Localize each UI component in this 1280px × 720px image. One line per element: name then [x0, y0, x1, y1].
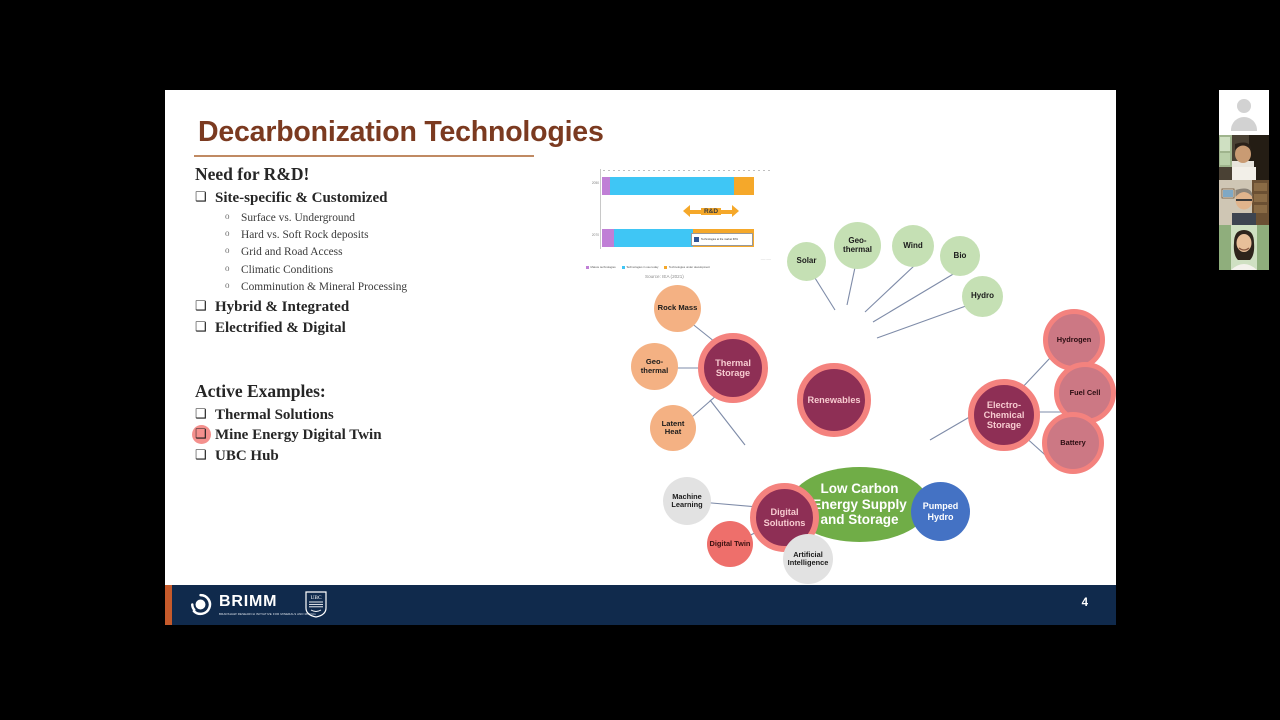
checkbox-icon: ❑: [195, 188, 215, 206]
chart-bar-segment: [610, 177, 734, 195]
node-label: Renewables: [805, 395, 862, 405]
bullet-label: Site-specific & Customized: [215, 188, 387, 209]
spacer: [195, 339, 545, 381]
circle-bullet-icon: o: [225, 279, 241, 293]
node-solar: Solar: [787, 242, 826, 281]
circle-bullet-icon: o: [225, 210, 241, 224]
brimm-name: BRIMM: [219, 594, 316, 610]
video-tile-avatar[interactable]: [1219, 90, 1269, 135]
bullet-label: Electrified & Digital: [215, 318, 346, 339]
sub-bullet-item: o Grid and Road Access: [225, 244, 545, 261]
chart-bar-segment: [602, 177, 610, 195]
node-digital-twin: Digital Twin: [707, 521, 753, 567]
footer-accent-bar: [165, 585, 172, 625]
sub-bullet-label: Comminution & Mineral Processing: [241, 279, 407, 296]
node-label: Hydro: [969, 292, 996, 301]
avatar-body-icon: [1231, 117, 1257, 131]
node-label: Battery: [1058, 439, 1087, 447]
brimm-subtitle: BRADSHAW RESEARCH INITIATIVE FOR MINERAL…: [219, 612, 316, 616]
checkbox-icon: ❑: [195, 318, 215, 336]
legend-swatch: [622, 266, 625, 269]
left-content-column: Need for R&D! ❑ Site-specific & Customiz…: [195, 164, 545, 467]
chart-source-caption: Source: IEA (2021): [645, 274, 684, 279]
chart-bar-segment: [602, 229, 614, 247]
chart-top-gridline: [603, 170, 771, 171]
node-label: DigitalSolutions: [762, 507, 808, 527]
node-label: Digital Twin: [708, 540, 753, 548]
node-label: Rock Mass: [656, 304, 700, 312]
node-machine-learning: MachineLearning: [663, 477, 711, 525]
node-rock-mass: Rock Mass: [654, 285, 701, 332]
node-label: Fuel Cell: [1068, 389, 1103, 397]
example-label: Mine Energy Digital Twin: [215, 425, 382, 446]
chart-ytick-1: 2070: [583, 233, 599, 237]
checkbox-icon: ❑: [195, 297, 215, 315]
node-hydro: Hydro: [962, 276, 1003, 317]
chart-footnote: —— ——: [761, 258, 771, 261]
sub-bullet-item: o Hard vs. Soft Rock deposits: [225, 227, 545, 244]
chart-bar-segment: [734, 177, 754, 195]
video-tile-participant-2[interactable]: [1219, 180, 1269, 225]
chart-legend: Mature technologiesTechnologies in use t…: [586, 265, 710, 269]
embedded-bar-chart: 2050 2070 R&D Technologies at the market…: [583, 165, 773, 281]
sub-bullet-item: o Comminution & Mineral Processing: [225, 279, 545, 296]
node-label: Bio: [952, 252, 969, 261]
need-for-rd-heading: Need for R&D!: [195, 164, 545, 185]
brimm-logo: BRIMM BRADSHAW RESEARCH INITIATIVE FOR M…: [189, 593, 316, 616]
node-electro-chemical-storage: Electro-ChemicalStorage: [968, 379, 1040, 451]
sub-bullet-label: Surface vs. Underground: [241, 210, 355, 227]
callout-text: Technologies at the market 60%: [701, 238, 738, 241]
node-latent-heat: LatentHeat: [650, 405, 696, 451]
active-examples-heading: Active Examples:: [195, 381, 545, 402]
circle-bullet-icon: o: [225, 227, 241, 241]
node-label: Wind: [901, 242, 924, 251]
title-underline: [194, 155, 534, 157]
zoom-screen-share: Decarbonization Technologies Need for R&…: [0, 0, 1280, 720]
bullet-hybrid-integrated: ❑ Hybrid & Integrated: [195, 297, 545, 318]
legend-swatch: [664, 266, 667, 269]
rd-annotation-arrow: R&D: [683, 205, 739, 218]
node-geothermal-thermal: Geo-thermal: [631, 343, 678, 390]
bullet-electrified-digital: ❑ Electrified & Digital: [195, 318, 545, 339]
legend-label: Technologies in use today: [626, 265, 658, 269]
checkbox-icon: ❑: [195, 425, 215, 443]
circle-bullet-icon: o: [225, 262, 241, 276]
chart-bar-segment: [614, 229, 693, 247]
example-ubc-hub: ❑ UBC Hub: [195, 446, 545, 467]
node-label: Geo-thermal: [841, 237, 874, 255]
node-geothermal-renewable: Geo-thermal: [834, 222, 881, 269]
node-battery: Battery: [1042, 412, 1104, 474]
chart-y-axis: [600, 169, 601, 249]
bullet-label: Hybrid & Integrated: [215, 297, 349, 318]
checkbox-icon: ❑: [195, 446, 215, 464]
circle-bullet-icon: o: [225, 244, 241, 258]
sub-bullet-item: o Climatic Conditions: [225, 262, 545, 279]
presentation-slide: Decarbonization Technologies Need for R&…: [165, 90, 1116, 585]
video-tile-participant-1[interactable]: [1219, 135, 1269, 180]
node-label: Solar: [794, 257, 818, 266]
sub-bullet-label: Climatic Conditions: [241, 262, 333, 279]
chart-ytick-0: 2050: [583, 181, 599, 185]
video-tile-strip: [1219, 90, 1269, 270]
slide-footer: BRIMM BRADSHAW RESEARCH INITIATIVE FOR M…: [165, 585, 1116, 625]
legend-label: Mature technologies: [591, 265, 616, 269]
brimm-swirl-icon: [189, 593, 212, 616]
node-artificial-intelligence: ArtificialIntelligence: [783, 534, 833, 584]
example-label: Thermal Solutions: [215, 405, 334, 426]
legend-entry: Technologies in use today: [622, 265, 659, 269]
sub-bullet-item: o Surface vs. Underground: [225, 210, 545, 227]
chart-callout-box: Technologies at the market 60%: [691, 233, 753, 246]
arrow-head-left-icon: [683, 205, 690, 217]
legend-entry: Mature technologies: [586, 265, 616, 269]
node-label: PumpedHydro: [921, 501, 961, 523]
ubc-crest-logo: UBC: [305, 591, 327, 618]
node-label: Electro-ChemicalStorage: [982, 400, 1027, 430]
checkbox-icon: ❑: [195, 405, 215, 423]
node-label: ArtificialIntelligence: [786, 551, 831, 567]
svg-text:UBC: UBC: [310, 595, 321, 601]
example-thermal-solutions: ❑ Thermal Solutions: [195, 405, 545, 426]
legend-swatch: [586, 266, 589, 269]
callout-logo-icon: [694, 237, 699, 242]
node-fuel-cell: Fuel Cell: [1054, 362, 1116, 424]
sub-bullet-list: o Surface vs. Underground o Hard vs. Sof…: [195, 210, 545, 297]
arrow-head-right-icon: [732, 205, 739, 217]
node-label: Low CarbonEnergy Supplyand Storage: [810, 481, 909, 529]
node-renewables: Renewables: [797, 363, 871, 437]
chart-bar-row: [602, 177, 754, 195]
sub-bullet-label: Hard vs. Soft Rock deposits: [241, 227, 369, 244]
node-bio: Bio: [940, 236, 980, 276]
node-label: Hydrogen: [1055, 336, 1094, 344]
node-pumped-hydro: PumpedHydro: [911, 482, 970, 541]
node-label: MachineLearning: [669, 493, 704, 509]
node-thermal-storage: ThermalStorage: [698, 333, 768, 403]
node-hub-low-carbon: Low CarbonEnergy Supplyand Storage: [790, 467, 929, 542]
bullet-site-specific: ❑ Site-specific & Customized: [195, 188, 545, 209]
node-hydrogen: Hydrogen: [1043, 309, 1105, 371]
sub-bullet-label: Grid and Road Access: [241, 244, 343, 261]
brimm-wordmark: BRIMM BRADSHAW RESEARCH INITIATIVE FOR M…: [219, 594, 316, 616]
node-wind: Wind: [892, 225, 934, 267]
avatar-head-icon: [1237, 99, 1251, 113]
node-label: Geo-thermal: [639, 358, 670, 375]
legend-label: Technologies under development: [669, 265, 710, 269]
video-tile-participant-3[interactable]: [1219, 225, 1269, 270]
example-label: UBC Hub: [215, 446, 279, 467]
page-number: 4: [1082, 597, 1088, 609]
example-mine-energy-digital-twin: ❑ Mine Energy Digital Twin: [195, 425, 545, 446]
page-title: Decarbonization Technologies: [198, 116, 604, 149]
node-digital-solutions: DigitalSolutions: [750, 483, 819, 552]
node-label: LatentHeat: [660, 420, 687, 437]
node-label: ThermalStorage: [713, 358, 753, 378]
rd-label: R&D: [701, 208, 721, 215]
legend-entry: Technologies under development: [664, 265, 710, 269]
